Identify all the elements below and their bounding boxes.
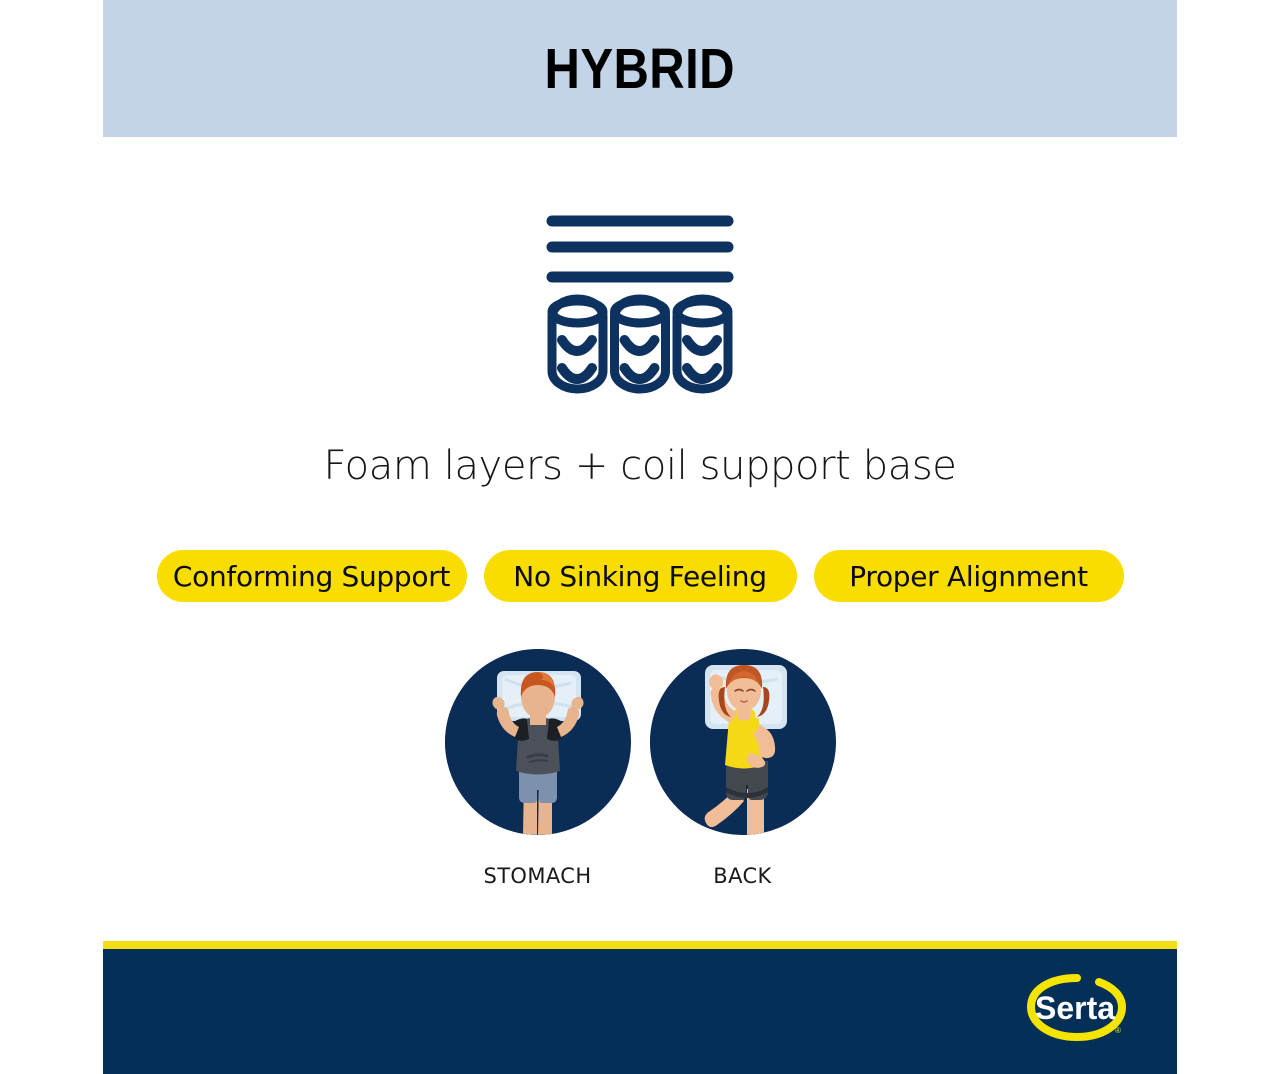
- header-band: HYBRID: [103, 0, 1177, 137]
- benefits-row: Conforming Support No Sinking Feeling Pr…: [103, 550, 1177, 602]
- benefit-pill-label: Conforming Support: [173, 560, 450, 593]
- serta-logo[interactable]: Serta ®: [1025, 972, 1129, 1044]
- serta-logo-text: Serta: [1035, 990, 1115, 1026]
- registered-trademark-mark: ®: [1115, 1026, 1121, 1035]
- page-title: HYBRID: [545, 36, 736, 102]
- back-sleeper-illustration: [650, 649, 836, 835]
- sleep-positions-row: STOMACH: [103, 649, 1177, 888]
- footer-accent-stripe: [103, 941, 1177, 949]
- footer-bar: Serta ®: [103, 949, 1177, 1074]
- stomach-sleeper-circle: [445, 649, 631, 835]
- sleep-position-label: STOMACH: [483, 864, 591, 888]
- hybrid-icon-container: [103, 195, 1177, 395]
- infographic-page: HYBRID: [0, 0, 1280, 1074]
- benefit-pill-label: Proper Alignment: [849, 560, 1088, 593]
- stomach-sleeper-illustration: [445, 649, 631, 835]
- sleep-position-stomach[interactable]: STOMACH: [445, 649, 631, 888]
- subtitle-text: Foam layers + coil support base: [103, 443, 1177, 489]
- content-card: HYBRID: [103, 0, 1177, 1074]
- sleep-position-back[interactable]: BACK: [650, 649, 836, 888]
- back-sleeper-circle: [650, 649, 836, 835]
- benefit-pill-label: No Sinking Feeling: [513, 560, 766, 593]
- benefit-pill-no-sinking-feeling[interactable]: No Sinking Feeling: [484, 550, 797, 602]
- hybrid-mattress-icon: [540, 195, 740, 395]
- sleep-position-label: BACK: [713, 864, 771, 888]
- benefit-pill-conforming-support[interactable]: Conforming Support: [157, 550, 467, 602]
- benefit-pill-proper-alignment[interactable]: Proper Alignment: [814, 550, 1124, 602]
